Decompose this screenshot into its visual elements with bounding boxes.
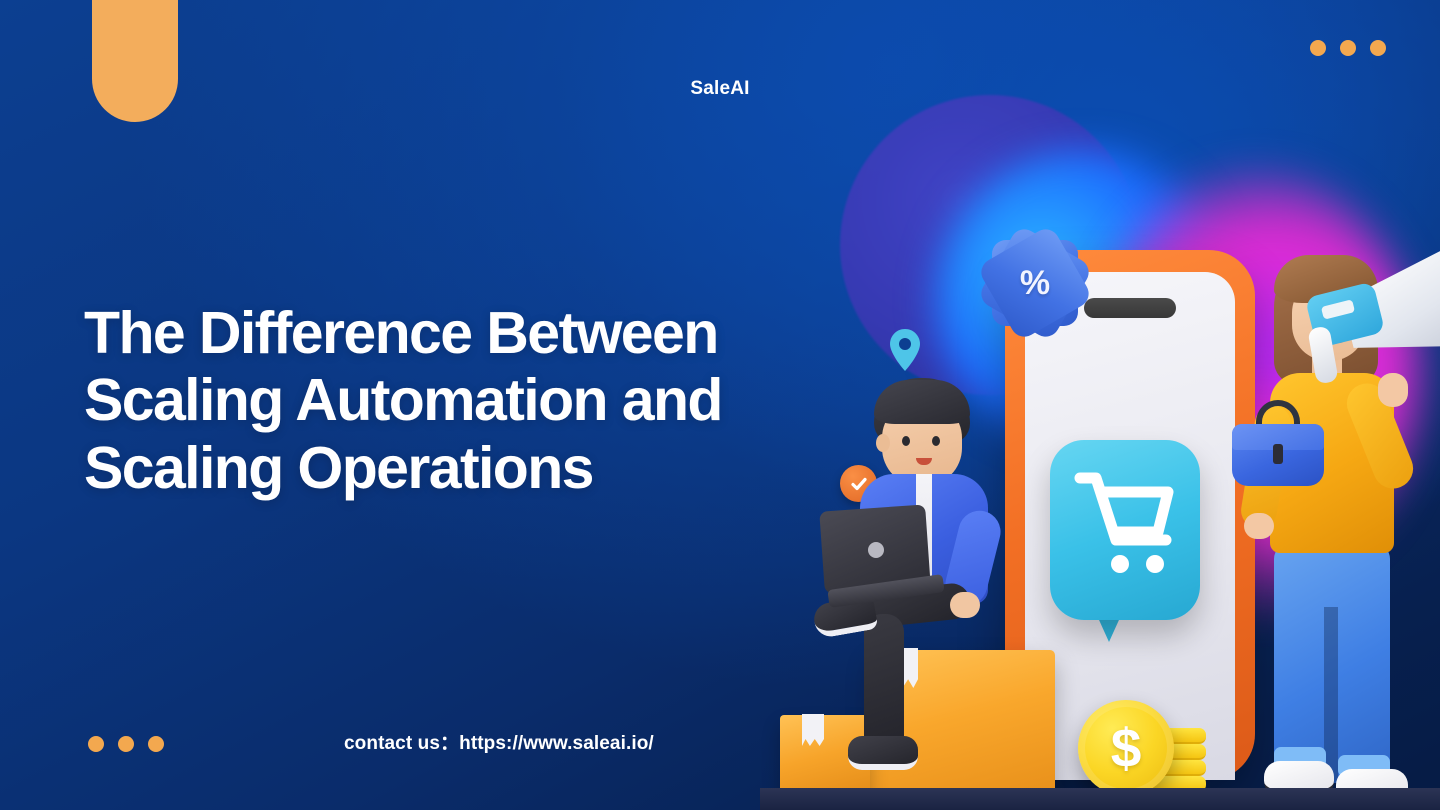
headline-line-2: Scaling Automation and (84, 367, 874, 434)
megaphone-icon (1300, 255, 1440, 405)
man-ear (876, 434, 890, 452)
page-title: The Difference Between Scaling Automatio… (84, 300, 874, 502)
top-left-u-shape-decoration (92, 0, 178, 122)
laptop-logo (868, 542, 884, 558)
shopping-cart-bubble (1050, 440, 1200, 620)
dot-icon (118, 736, 134, 752)
handbag-icon (1232, 400, 1324, 486)
gold-coin: $ (1078, 700, 1174, 796)
poster-canvas: % (0, 0, 1440, 810)
dot-icon (148, 736, 164, 752)
dot-icon (88, 736, 104, 752)
ground-shadow-bar (760, 788, 1440, 810)
bottom-left-dots-decoration (88, 736, 164, 752)
handbag-clasp (1273, 444, 1283, 464)
headline-line-1: The Difference Between (84, 300, 874, 367)
man-shoe (848, 736, 918, 770)
man-hand (950, 592, 980, 618)
phone-speaker-notch (1084, 298, 1176, 318)
shopping-cart-icon (1050, 440, 1200, 620)
man-hair-front (874, 380, 970, 424)
man-eye (902, 436, 910, 446)
percent-symbol-icon: % (992, 240, 1078, 326)
location-pin-icon (888, 328, 922, 372)
brand-logo: SaleAI (0, 78, 1440, 100)
man-lower-leg (864, 614, 904, 754)
woman-hand (1244, 513, 1274, 539)
woman-leg-separation (1324, 607, 1338, 783)
headline-line-3: Scaling Operations (84, 435, 874, 502)
contact-url-text: contact us：https://www.saleai.io/ (344, 728, 654, 755)
man-eye (932, 436, 940, 446)
percent-discount-badge: % (992, 240, 1078, 326)
